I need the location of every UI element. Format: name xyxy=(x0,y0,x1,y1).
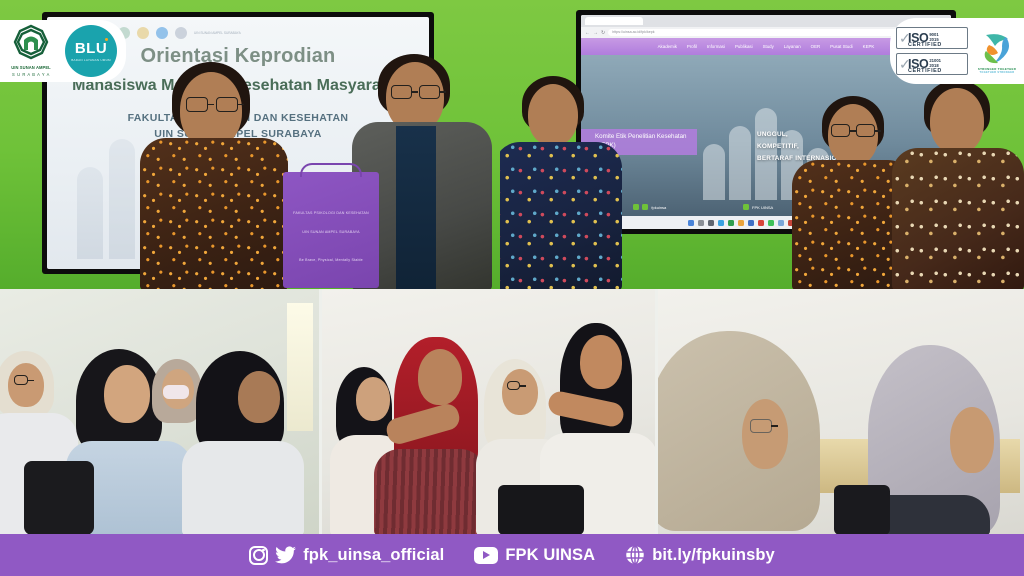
logo-card-left: UIN SUNAN AMPEL S U R A B A Y A BLU BADA… xyxy=(0,20,126,82)
souvenir-bag: FAKULTAS PSIKOLOGI DAN KESEHATAN UIN SUN… xyxy=(283,172,379,288)
batik-shirt xyxy=(140,138,288,289)
footer-label-website: bit.ly/fpkuinsby xyxy=(652,546,775,565)
eyeglasses-icon xyxy=(216,97,238,112)
uinsa-logo: UIN SUNAN AMPEL S U R A B A Y A xyxy=(6,24,56,77)
stronger-line1: STRONGER TOGETHER xyxy=(974,67,1020,71)
office-chair xyxy=(24,461,94,534)
nav-item-publikasi[interactable]: Publikasi xyxy=(735,44,753,49)
photo-row-bottom xyxy=(0,289,1024,534)
photo-bottom-left xyxy=(0,289,322,534)
start-icon[interactable] xyxy=(688,220,694,226)
edge-icon[interactable] xyxy=(718,220,724,226)
nav-item-informasi[interactable]: Informasi xyxy=(707,44,725,49)
footer-item-instagram-twitter[interactable]: fpk_uinsa_official xyxy=(249,546,444,565)
blu-subtitle: BADAN LAYANAN UMUM xyxy=(71,58,111,62)
partner-logo-caption: UIN SUNAN AMPEL SURABAYA xyxy=(194,31,241,35)
folder-icon[interactable] xyxy=(738,220,744,226)
browser-tab-strip xyxy=(581,15,951,27)
iso-badge-21001: ✓ ISO 21001 2018 CERTIFIED xyxy=(896,53,968,75)
social-footer-bar: fpk_uinsa_official FPK UINSA bit.ly/fpku… xyxy=(0,534,1024,576)
pdf-icon[interactable] xyxy=(758,220,764,226)
eyeglasses-icon xyxy=(419,85,440,99)
youtube-icon[interactable] xyxy=(474,547,498,564)
face xyxy=(528,84,578,146)
uniform-shirt xyxy=(182,441,304,534)
face xyxy=(8,363,44,407)
nav-item-profil[interactable]: Profil xyxy=(687,44,697,49)
nav-item-pusat-studi[interactable]: Pusat Studi xyxy=(830,44,852,49)
uinsa-name-line2: S U R A B A Y A xyxy=(6,72,56,78)
footer-item-youtube[interactable]: FPK UINSA xyxy=(474,546,595,565)
face xyxy=(930,88,984,154)
logo-card-right: ✓ ISO 9001 2015 CERTIFIED ✓ ISO 21001 20… xyxy=(890,18,1024,84)
poster-canvas: UIN SUNAN AMPEL SURABAYA Orientasi Kepro… xyxy=(0,0,1024,576)
face xyxy=(104,365,150,423)
window-light xyxy=(287,303,313,431)
uinsa-name-line1: UIN SUNAN AMPEL xyxy=(6,65,56,71)
striped-shirt xyxy=(374,449,486,534)
iso-certified-text: CERTIFIED xyxy=(908,42,942,48)
inner-shirt xyxy=(396,126,436,289)
footer-item-website[interactable]: bit.ly/fpkuinsby xyxy=(625,545,775,565)
reload-icon[interactable]: ↻ xyxy=(601,30,605,36)
eyeglasses-icon xyxy=(186,97,208,112)
arch-shape xyxy=(109,139,135,259)
partner-logo-icon xyxy=(156,27,168,39)
whatsapp-icon[interactable] xyxy=(768,220,774,226)
uinsa-emblem-icon xyxy=(11,24,51,64)
nav-item-kepk[interactable]: KEPK xyxy=(863,44,875,49)
forward-icon[interactable]: → xyxy=(593,30,598,36)
face xyxy=(418,349,462,405)
eyeglasses-icon xyxy=(750,419,772,433)
nav-item-oer[interactable]: OER xyxy=(811,44,821,49)
eyeglasses-icon xyxy=(831,124,850,137)
footer-label-instagram: fpk_uinsa_official xyxy=(303,546,444,565)
nav-item-study[interactable]: Study xyxy=(763,44,774,49)
twitter-icon[interactable] xyxy=(275,546,296,564)
face xyxy=(580,335,622,389)
explorer-icon[interactable] xyxy=(778,220,784,226)
arch-shape xyxy=(729,126,751,200)
bag-print-line1: FAKULTAS PSIKOLOGI DAN KESEHATAN xyxy=(283,211,379,216)
eyeglasses-icon xyxy=(14,375,28,385)
floral-shirt xyxy=(500,142,622,289)
nav-item-layanan[interactable]: Layanan xyxy=(784,44,801,49)
iso-badge-9001: ✓ ISO 9001 2015 CERTIFIED xyxy=(896,27,968,49)
twitter-icon xyxy=(642,204,648,210)
iso-badge-stack: ✓ ISO 9001 2015 CERTIFIED ✓ ISO 21001 20… xyxy=(896,27,968,75)
excel-icon[interactable] xyxy=(728,220,734,226)
nav-item-akademik[interactable]: Akademik xyxy=(658,44,677,49)
face xyxy=(238,371,280,423)
search-icon[interactable] xyxy=(698,220,704,226)
youtube-icon xyxy=(743,204,749,210)
site-social-instagram[interactable]: fpkuinsa xyxy=(633,204,666,210)
arch-shape xyxy=(77,167,103,259)
site-social-label: FPK UINSA xyxy=(752,205,773,210)
face xyxy=(502,369,538,415)
instagram-icon xyxy=(633,204,639,210)
footer-label-youtube: FPK UINSA xyxy=(505,546,595,565)
blu-badge: BLU BADAN LAYANAN UMUM xyxy=(65,25,117,77)
instagram-icon[interactable] xyxy=(249,546,268,565)
photo-bottom-right xyxy=(658,289,1024,534)
batik-shirt xyxy=(892,148,1024,289)
face-mask xyxy=(163,385,189,399)
arch-shape xyxy=(703,144,725,200)
browser-tab[interactable] xyxy=(585,17,643,25)
eyeglasses-icon xyxy=(856,124,875,137)
back-icon[interactable]: ← xyxy=(585,30,590,36)
photo-bottom-middle xyxy=(322,289,658,534)
blu-wordmark: BLU xyxy=(75,41,107,56)
face xyxy=(742,399,788,469)
eyeglasses-icon xyxy=(391,85,412,99)
stack-chair xyxy=(498,485,584,534)
taskview-icon[interactable] xyxy=(708,220,714,226)
globe-icon[interactable] xyxy=(625,545,645,565)
stronger-together-logo: STRONGER TOGETHER TOGETHER STRONGER xyxy=(974,29,1020,74)
face xyxy=(356,377,390,421)
iso-certified-text: CERTIFIED xyxy=(908,68,942,74)
photo-row-top: UIN SUNAN AMPEL SURABAYA Orientasi Kepro… xyxy=(0,0,1024,289)
stronger-together-icon xyxy=(980,29,1014,67)
bag-print-line2: UIN SUNAN AMPEL SURABAYA xyxy=(283,230,379,235)
stronger-line2: TOGETHER STRONGER xyxy=(974,71,1020,74)
partner-logo-icon xyxy=(137,27,149,39)
bag-print-line3: Be Brave, Physical, Mentally Stable xyxy=(283,258,379,263)
hero-badge-line1: Komite Etik Penelitian Kesehatan xyxy=(595,133,687,142)
face xyxy=(950,407,994,473)
partner-logo-icon xyxy=(175,27,187,39)
site-social-label: fpkuinsa xyxy=(651,205,666,210)
word-icon[interactable] xyxy=(748,220,754,226)
office-chair xyxy=(834,485,890,534)
site-social-youtube[interactable]: FPK UINSA xyxy=(743,204,773,210)
eyeglasses-icon xyxy=(507,381,520,390)
